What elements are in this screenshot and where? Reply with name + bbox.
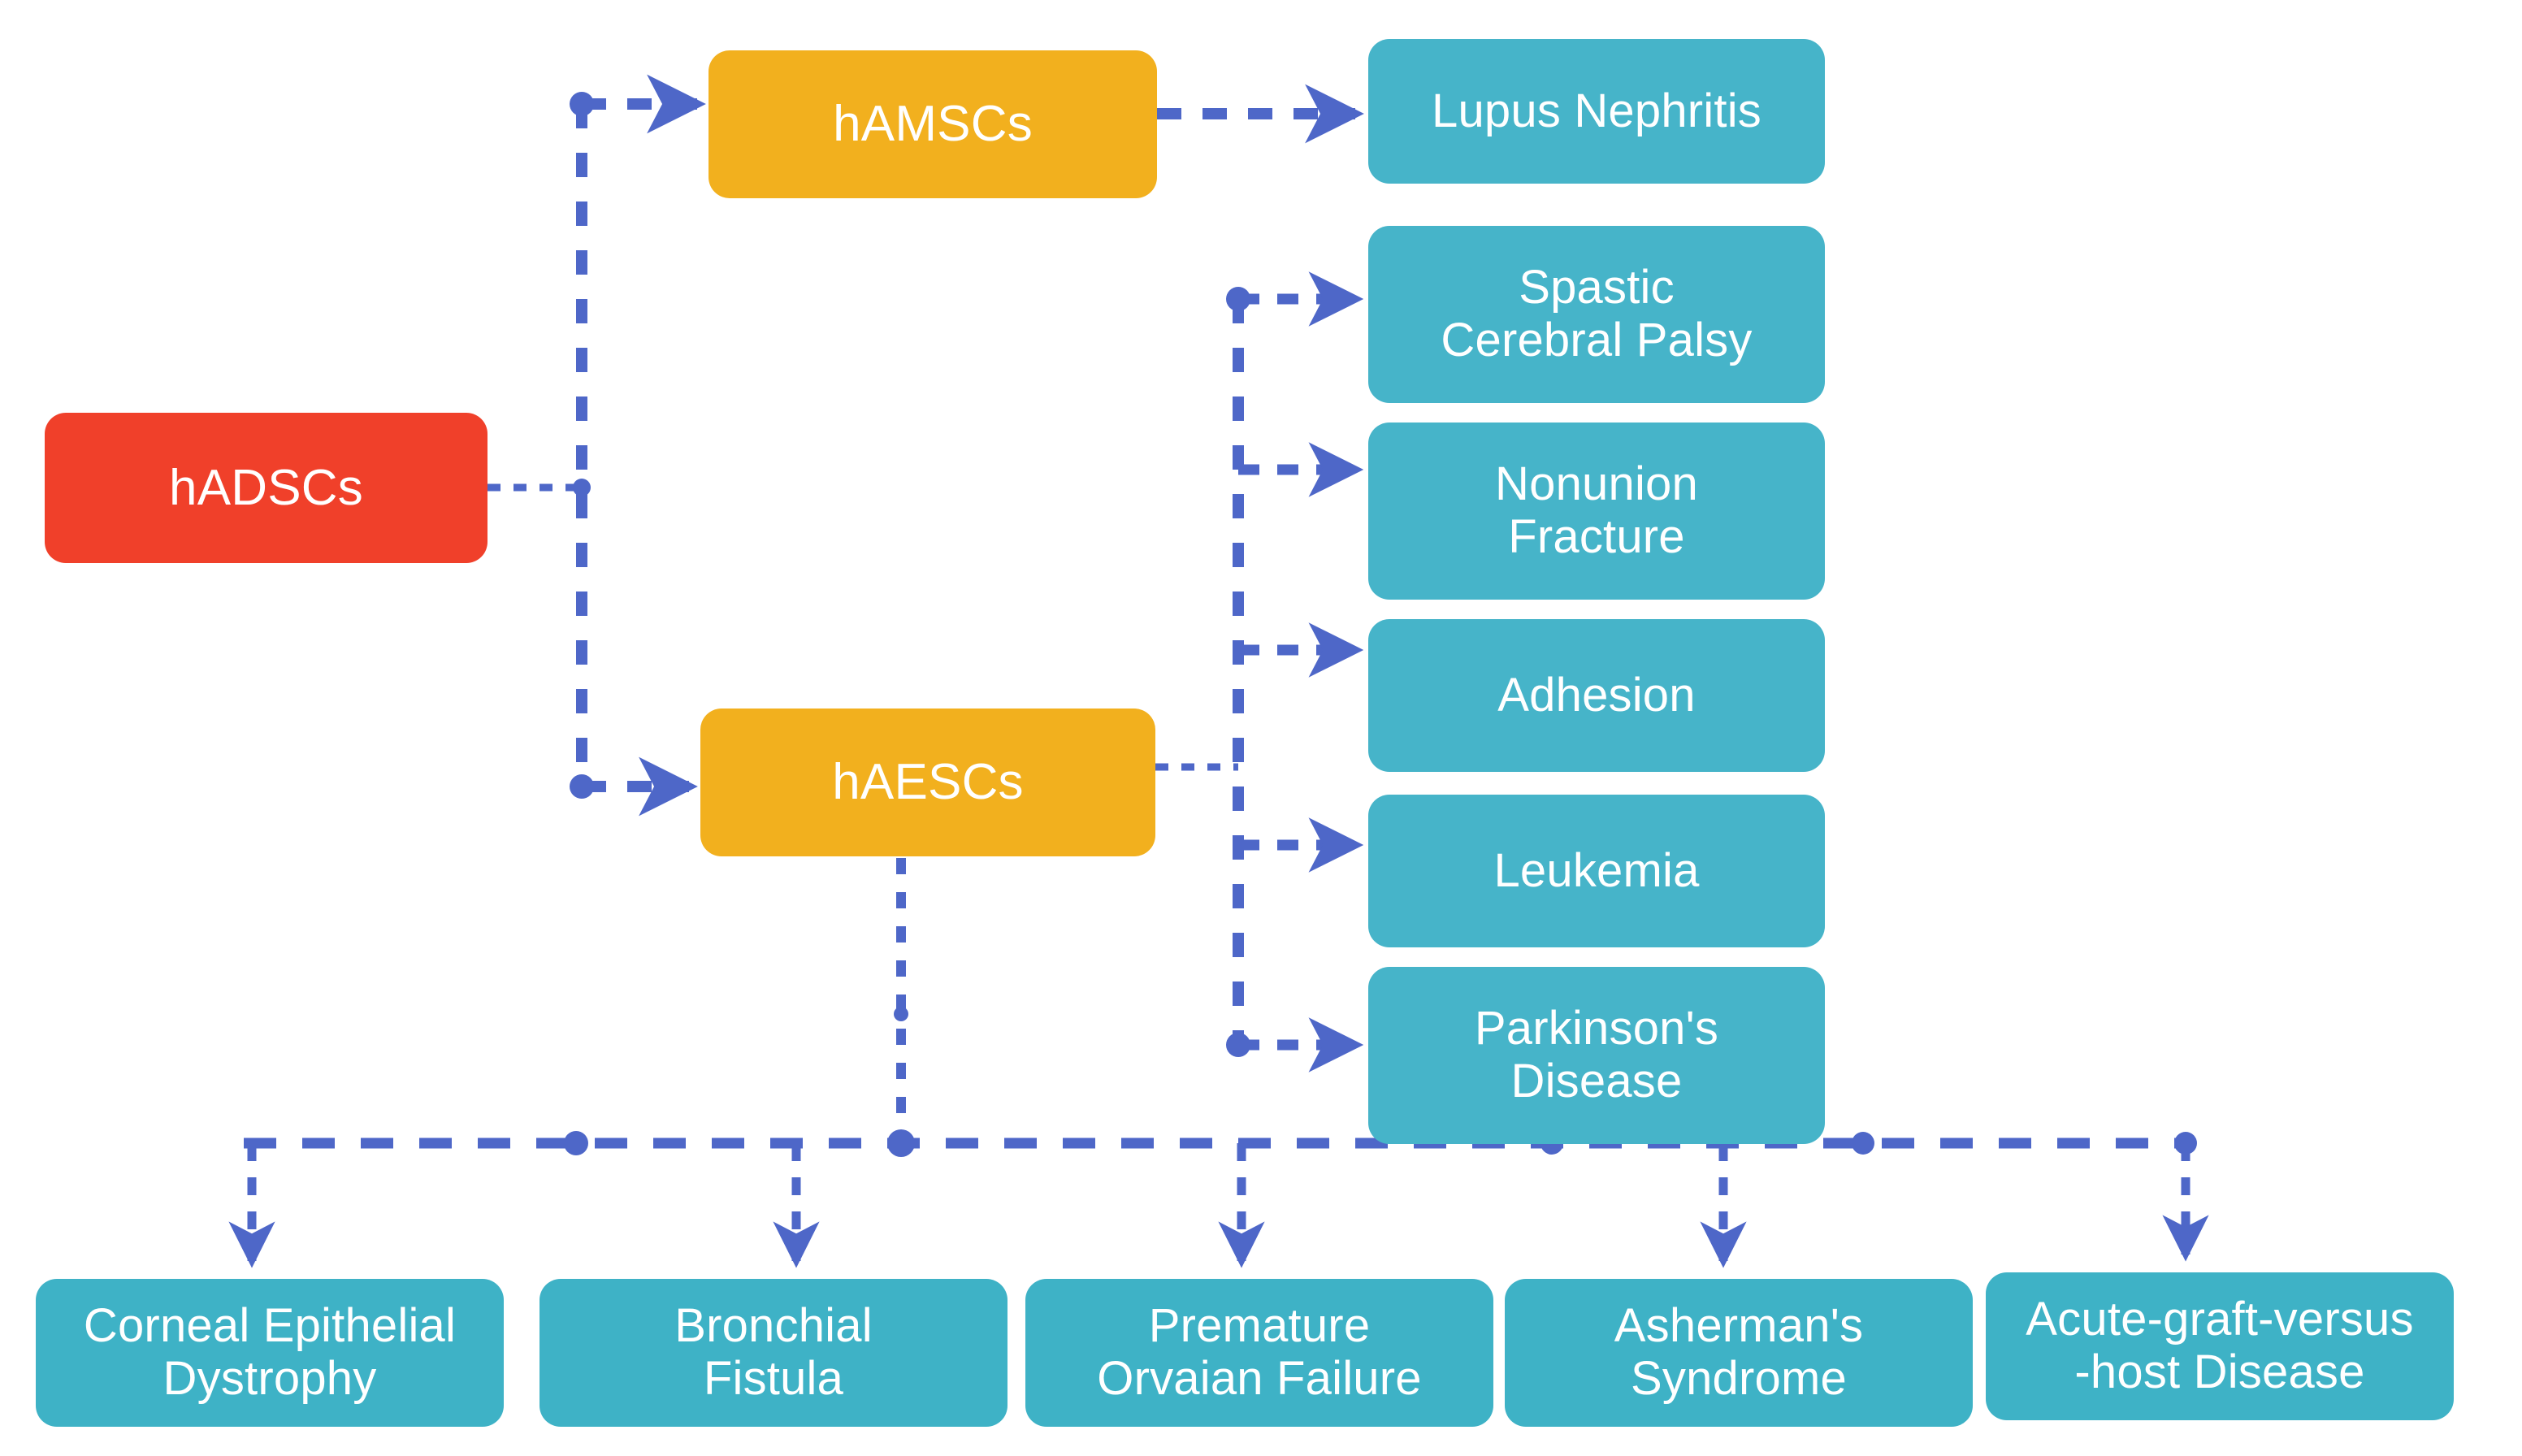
node-hamscs[interactable]: hAMSCs <box>708 50 1157 198</box>
edge-haescs-to-bus <box>887 858 915 1157</box>
node-spastic-cerebral-palsy[interactable]: Spastic Cerebral Palsy <box>1368 226 1825 403</box>
edge-trunk-vertical <box>570 92 594 799</box>
node-parkinsons-disease[interactable]: Parkinson's Disease <box>1368 967 1825 1144</box>
node-bronchial-fistula[interactable]: Bronchial Fistula <box>539 1279 1007 1427</box>
edge-hadscs-to-trunk <box>487 479 591 496</box>
node-hadscs[interactable]: hADSCs <box>45 413 487 563</box>
node-premature-orvaian-failure[interactable]: Premature Orvaian Failure <box>1025 1279 1493 1427</box>
edge-right-trunk-vertical <box>1226 287 1250 1057</box>
node-ashermans-syndrome[interactable]: Asherman's Syndrome <box>1505 1279 1973 1427</box>
flowchart-canvas: hADSCs hAMSCs hAESCs Lupus Nephritis Spa… <box>0 0 2522 1456</box>
connector-layer <box>0 0 2522 1456</box>
node-corneal-epithelial-dystrophy[interactable]: Corneal Epithelial Dystrophy <box>36 1279 504 1427</box>
node-nonunion-fracture[interactable]: Nonunion Fracture <box>1368 422 1825 600</box>
node-leukemia[interactable]: Leukemia <box>1368 795 1825 947</box>
edge-bottom-bus <box>244 1131 2197 1155</box>
node-haescs[interactable]: hAESCs <box>700 708 1155 856</box>
node-lupus-nephritis[interactable]: Lupus Nephritis <box>1368 39 1825 184</box>
node-adhesion[interactable]: Adhesion <box>1368 619 1825 772</box>
node-acute-graft-versus-host-disease[interactable]: Acute-graft-versus -host Disease <box>1986 1272 2454 1420</box>
